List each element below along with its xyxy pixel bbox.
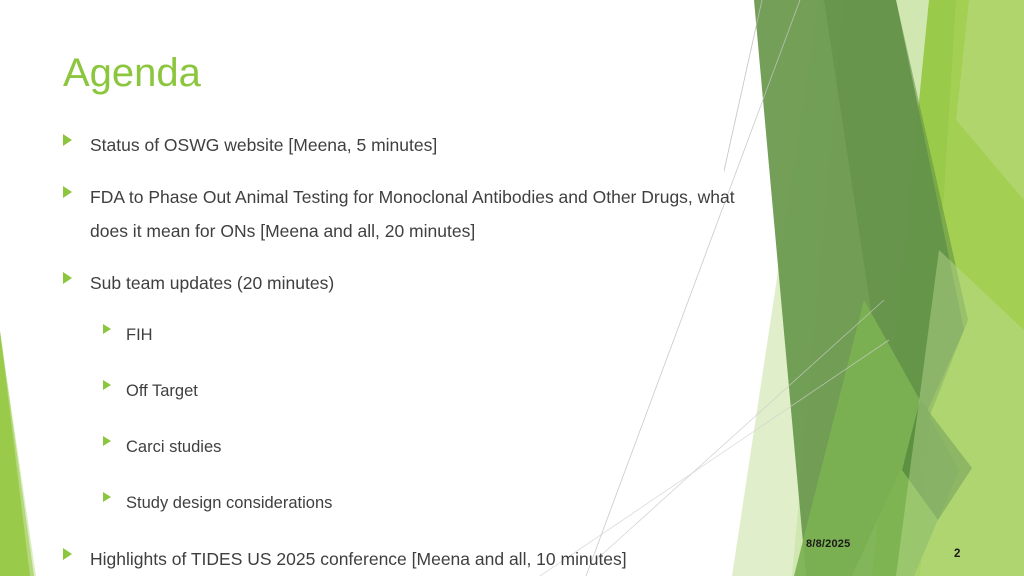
bullet-triangle-icon	[63, 186, 72, 198]
list-item-label: Off Target	[126, 374, 198, 408]
bullet-triangle-icon	[103, 380, 111, 390]
list-item: Sub team updates (20 minutes)	[63, 266, 763, 300]
list-item: FDA to Phase Out Animal Testing for Mono…	[63, 180, 763, 248]
list-item: Off Target	[63, 374, 763, 408]
list-item: Study design considerations	[63, 486, 763, 520]
bullet-triangle-icon	[103, 492, 111, 502]
list-item-label: Carci studies	[126, 430, 221, 464]
list-item: Highlights of TIDES US 2025 conference […	[63, 542, 763, 576]
decoration-left-wedge	[0, 326, 60, 576]
list-item-label: Highlights of TIDES US 2025 conference […	[90, 542, 627, 576]
decoration-right-polygons	[724, 0, 1024, 576]
slide-number: 2	[954, 548, 960, 560]
page-title: Agenda	[63, 50, 201, 96]
slide-date: 8/8/2025	[806, 538, 850, 550]
bullet-triangle-icon	[103, 324, 111, 334]
list-item-label: Sub team updates (20 minutes)	[90, 266, 334, 300]
list-item-label: FIH	[126, 318, 153, 352]
bullet-triangle-icon	[103, 436, 111, 446]
list-item: Status of OSWG website [Meena, 5 minutes…	[63, 128, 763, 162]
slide-canvas: Agenda Status of OSWG website [Meena, 5 …	[0, 0, 1024, 576]
bullet-triangle-icon	[63, 134, 72, 146]
list-item: FIH	[63, 318, 763, 352]
list-item-label: Status of OSWG website [Meena, 5 minutes…	[90, 128, 437, 162]
list-item-label: FDA to Phase Out Animal Testing for Mono…	[90, 180, 763, 248]
list-item: Carci studies	[63, 430, 763, 464]
agenda-list: Status of OSWG website [Meena, 5 minutes…	[63, 128, 763, 576]
list-item-label: Study design considerations	[126, 486, 332, 520]
bullet-triangle-icon	[63, 272, 72, 284]
bullet-triangle-icon	[63, 548, 72, 560]
